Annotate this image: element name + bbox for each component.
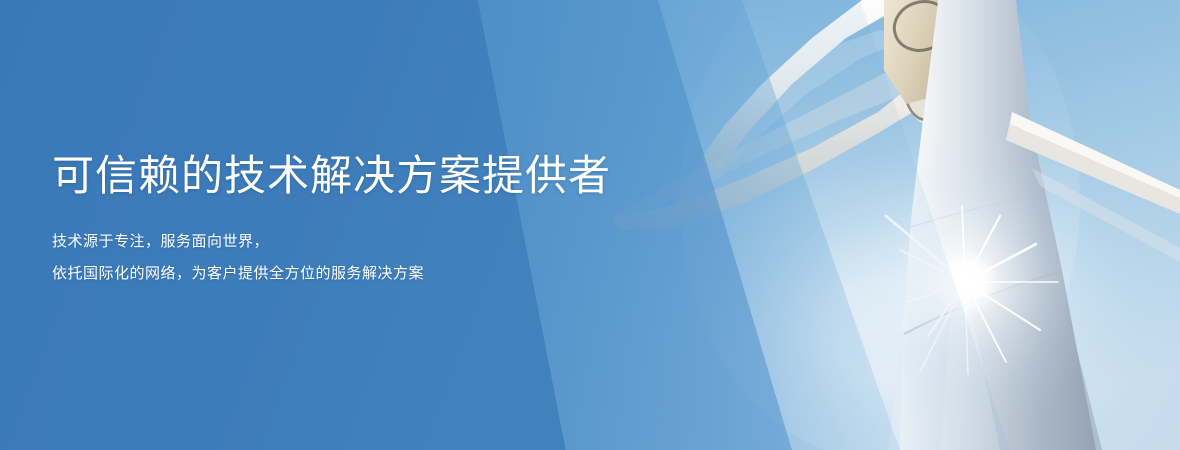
hero-banner: 可信赖的技术解决方案提供者 技术源于专注，服务面向世界， 依托国际化的网络，为客… [0,0,1180,450]
page-title: 可信赖的技术解决方案提供者 [52,152,611,200]
subtitle-line-2: 依托国际化的网络，为客户提供全方位的服务解决方案 [52,258,611,290]
hero-subtitle: 技术源于专注，服务面向世界， 依托国际化的网络，为客户提供全方位的服务解决方案 [52,200,611,290]
subtitle-line-1: 技术源于专注，服务面向世界， [52,226,611,258]
hero-copy: 可信赖的技术解决方案提供者 技术源于专注，服务面向世界， 依托国际化的网络，为客… [52,152,611,290]
